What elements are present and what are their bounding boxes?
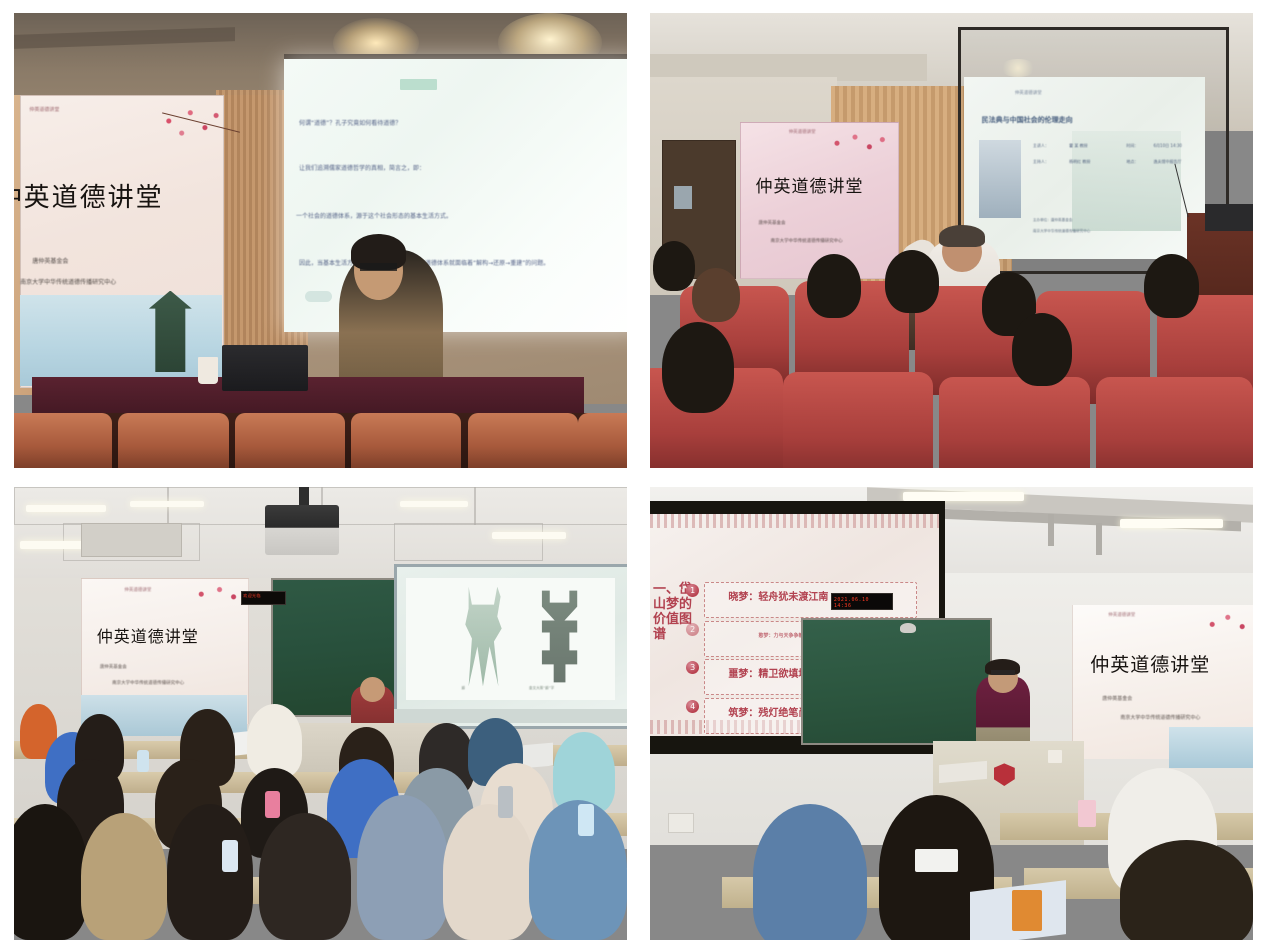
slide-line-3: 一个社会的道德体系，源于这个社会形态的基本生活方式。 — [296, 211, 452, 220]
audience-head — [653, 241, 695, 291]
slide-border-pattern — [650, 514, 939, 528]
red-theatre-seat — [1096, 377, 1253, 468]
banner-footer-image — [20, 295, 222, 386]
student — [1120, 840, 1253, 940]
banner-organizer-line-1: 唐仲英基金会 — [100, 664, 127, 670]
auditorium-chair — [468, 413, 578, 468]
photo-top-left[interactable]: 何谓“道德”？孔子究竟如何看待道德？ 让我们追溯儒家道德哲学的真相，简言之，即：… — [14, 13, 627, 468]
fluorescent-tube-light — [1120, 519, 1223, 528]
plum-blossom-decoration — [186, 582, 247, 609]
audience-head — [1144, 254, 1198, 318]
auditorium-chair — [14, 413, 112, 468]
security-camera — [900, 623, 916, 633]
water-bottle — [1078, 800, 1096, 827]
banner-title: 仲英道德讲堂 — [14, 177, 164, 214]
paper-cup — [1048, 750, 1062, 764]
audience-head — [1012, 313, 1072, 386]
water-bottle — [222, 840, 238, 872]
door-sign — [674, 186, 692, 209]
slide-field-label-1: 主讲人： — [1033, 143, 1049, 149]
ceiling-air-vent — [81, 523, 181, 557]
projection-screen — [284, 59, 627, 332]
student — [753, 804, 868, 940]
slide-title: 民法典与中国社会的伦理走向 — [982, 115, 1073, 125]
slide-line-2: 让我们追溯儒家道德哲学的真相，简言之，即： — [299, 163, 425, 172]
banner-organizer-line-2: 南京大学中华传统道德传播研究中心 — [1120, 714, 1200, 721]
ceiling-tile — [394, 523, 543, 561]
speaker-hair — [939, 225, 984, 248]
fluorescent-strip-light — [400, 501, 467, 508]
slide-caption-right: 金文大篆“爵”字 — [529, 686, 554, 691]
water-bottle — [137, 750, 149, 773]
banner-organizer-line-1: 唐仲英基金会 — [1102, 695, 1132, 702]
auditorium-chair — [351, 413, 461, 468]
wall-socket — [668, 813, 694, 833]
green-chalkboard — [801, 618, 992, 744]
speaker-glasses — [991, 670, 1015, 675]
paper-cup — [198, 357, 218, 384]
slide-field-label-4: 地点： — [1126, 159, 1138, 165]
ceiling-tile — [474, 487, 627, 525]
plum-blossom-decoration — [1199, 609, 1253, 641]
speaker-glasses — [360, 263, 397, 270]
slide-corner-tag: 仲英道德讲堂 — [1015, 90, 1042, 96]
auditorium-chair — [118, 413, 228, 468]
banner-title: 仲英道德讲堂 — [1090, 650, 1210, 677]
slide-field-value-2: 6月10日 14:30 — [1154, 143, 1182, 149]
water-bottle — [578, 804, 594, 836]
slide-field-value-4: 逸夫馆中报告厅 — [1154, 159, 1182, 165]
auditorium-chair — [578, 413, 627, 468]
speaker-portrait-on-slide — [979, 140, 1021, 217]
light-hanger — [1048, 514, 1054, 546]
student — [167, 804, 253, 940]
slide-field-value-3: 杨明红 教授 — [1069, 159, 1090, 165]
student — [259, 813, 351, 940]
smartphone[interactable] — [915, 849, 957, 872]
slide-field-value-1: 霍 某 教授 — [1069, 143, 1088, 149]
ceiling-mounted-projector — [265, 505, 339, 555]
led-display-text: 2021.06.10 14:36 — [834, 597, 888, 609]
slide-field-label-3: 主持人： — [1033, 159, 1049, 165]
projected-slide — [406, 578, 614, 700]
red-theatre-seat — [783, 372, 934, 468]
slide-field-label-2: 时间： — [1126, 143, 1138, 149]
banner-organizer-line-2: 南京大学中华传统道德传播研究中心 — [20, 277, 116, 286]
banner-header-logo-text: 仲英道德讲堂 — [29, 106, 59, 113]
student — [81, 813, 167, 940]
auditorium-chair — [235, 413, 345, 468]
banner-header-logo-text: 仲英道德讲堂 — [1108, 612, 1135, 618]
audience-head — [885, 250, 939, 314]
fluorescent-strip-light — [26, 505, 106, 512]
led-display-text: 欢迎光临 — [243, 593, 282, 601]
water-bottle — [265, 791, 280, 818]
light-hanger — [1096, 523, 1102, 555]
slide-line-1: 何谓“道德”？孔子究竟如何看待道德？ — [299, 118, 401, 127]
photo-top-right[interactable]: 仲英道德讲堂 仲英道德讲堂 唐仲英基金会 南京大学中华传统道德传播研究中心 仲英… — [650, 13, 1253, 468]
audience-head — [662, 322, 734, 413]
fluorescent-tube-light — [903, 492, 1024, 501]
audience-head — [692, 268, 740, 323]
banner-title: 仲英道德讲堂 — [756, 172, 864, 197]
slide-corner-tag — [400, 79, 437, 91]
banner-organizer-line-1: 唐仲英基金会 — [759, 220, 786, 226]
banner-footer-image — [1169, 727, 1253, 768]
whiteboard-taskbar[interactable] — [394, 709, 627, 723]
banner-organizer-line-2: 南京大学中华传统道德传播研究中心 — [771, 238, 843, 244]
fluorescent-strip-light — [492, 532, 566, 539]
laptop — [222, 345, 308, 391]
audience-head — [807, 254, 861, 318]
fluorescent-strip-light — [130, 501, 204, 508]
slide-item-number: 4 — [686, 700, 699, 713]
photo-bottom-left[interactable]: 仲英道德讲堂 仲英道德讲堂 唐仲英基金会 南京大学中华传统道德传播研究中心 欢迎… — [14, 487, 627, 940]
plum-blossom-decoration — [819, 127, 891, 163]
slide-caption-left: 爵 — [461, 686, 465, 691]
photo-bottom-right[interactable]: 一、岱山梦的价值图谱 1 晓梦：轻舟犹未渡江南 2 憨梦：力与天争争朝迭 3 噩… — [650, 487, 1253, 940]
slide-footer-line-1: 主办单位：唐仲英基金会 — [1033, 218, 1073, 223]
red-theatre-seat — [939, 377, 1090, 468]
teacher-head — [360, 677, 385, 702]
student — [357, 795, 449, 940]
thermos-bottle — [1012, 890, 1042, 931]
student — [443, 804, 535, 940]
banner-header-logo-text: 仲英道德讲堂 — [124, 587, 151, 593]
slide-item-number: 2 — [686, 623, 699, 636]
slide-footer-line-2: 南京大学中华传统道德传播研究中心 — [1033, 229, 1091, 234]
banner-organizer-line-1: 唐仲英基金会 — [32, 256, 68, 265]
photo-collage-grid: 何谓“道德”？孔子究竟如何看待道德？ 让我们追溯儒家道德哲学的真相，简言之，即：… — [0, 0, 1269, 952]
slide-item-text: 晓梦：轻舟犹未渡江南 — [728, 588, 828, 603]
student — [247, 704, 302, 776]
banner-title: 仲英道德讲堂 — [97, 623, 199, 647]
banner-organizer-line-2: 南京大学中华传统道德传播研究中心 — [112, 680, 184, 686]
banner-header-logo-text: 仲英道德讲堂 — [789, 129, 816, 135]
water-bottle — [498, 786, 513, 818]
slide-page-pill — [305, 291, 332, 303]
laptop — [1205, 204, 1253, 231]
